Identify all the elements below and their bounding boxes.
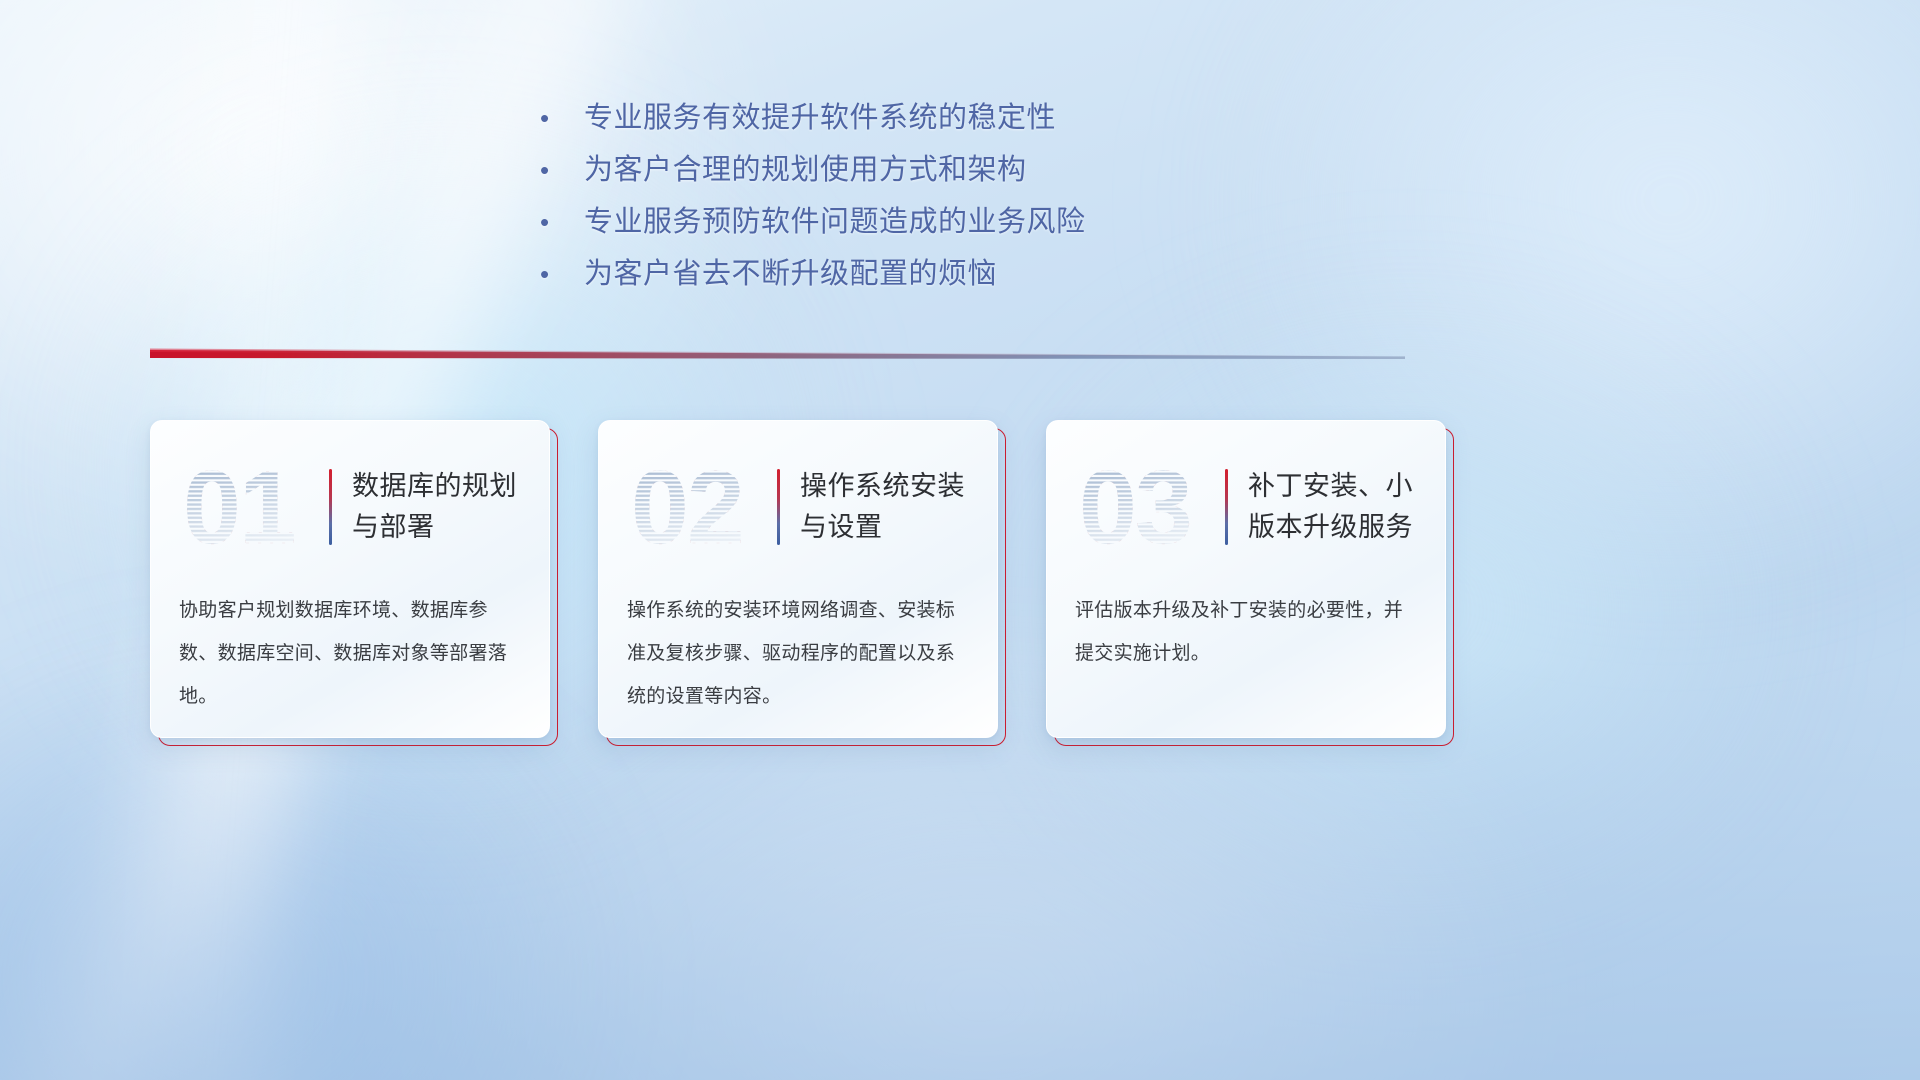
card-divider-line — [777, 469, 780, 545]
card-description: 协助客户规划数据库环境、数据库参数、数据库空间、数据库对象等部署落地。 — [179, 589, 521, 718]
service-card[interactable]: 02 02 操作系统安装与设置 操作系统的安装环境网络调查、安装标准及复核步骤、… — [598, 420, 1003, 744]
list-item-label: 为客户合理的规划使用方式和架构 — [584, 144, 1260, 196]
card-number-watermark: 02 02 — [629, 455, 769, 559]
list-item: • 为客户合理的规划使用方式和架构 — [540, 144, 1260, 196]
bullet-marker-icon: • — [540, 196, 584, 248]
card-header: 03 03 补丁安装、小版本升级服务 — [1075, 451, 1417, 563]
service-card[interactable]: 03 03 补丁安装、小版本升级服务 评估版本升级及补丁安装的必要性，并提交实施… — [1046, 420, 1451, 744]
card-surface: 02 02 操作系统安装与设置 操作系统的安装环境网络调查、安装标准及复核步骤、… — [598, 420, 998, 738]
list-item: • 为客户省去不断升级配置的烦恼 — [540, 248, 1260, 300]
list-item-label: 专业服务预防软件问题造成的业务风险 — [584, 196, 1260, 248]
svg-text:03: 03 — [1079, 455, 1191, 559]
bullet-marker-icon: • — [540, 92, 584, 144]
card-surface: 03 03 补丁安装、小版本升级服务 评估版本升级及补丁安装的必要性，并提交实施… — [1046, 420, 1446, 738]
card-number-watermark: 01 01 — [181, 455, 321, 559]
card-number-watermark: 03 03 — [1077, 455, 1217, 559]
svg-text:02: 02 — [631, 455, 743, 559]
bullet-marker-icon: • — [540, 248, 584, 300]
service-card[interactable]: 01 01 数据库的规划与部署 协助客户规划数据库环境、数据库参数、数据库空间、… — [150, 420, 555, 744]
card-description: 评估版本升级及补丁安装的必要性，并提交实施计划。 — [1075, 589, 1417, 675]
striped-number-icon: 03 03 — [1077, 455, 1217, 559]
benefits-bullet-list: • 专业服务有效提升软件系统的稳定性 • 为客户合理的规划使用方式和架构 • 专… — [540, 92, 1260, 300]
striped-number-icon: 02 02 — [629, 455, 769, 559]
card-header: 02 02 操作系统安装与设置 — [627, 451, 969, 563]
card-title: 补丁安装、小版本升级服务 — [1248, 466, 1417, 548]
list-item: • 专业服务预防软件问题造成的业务风险 — [540, 196, 1260, 248]
list-item: • 专业服务有效提升软件系统的稳定性 — [540, 92, 1260, 144]
svg-text:01: 01 — [183, 455, 295, 559]
service-cards: 01 01 数据库的规划与部署 协助客户规划数据库环境、数据库参数、数据库空间、… — [150, 420, 1470, 744]
card-title: 操作系统安装与设置 — [800, 466, 969, 548]
card-divider-line — [329, 469, 332, 545]
list-item-label: 为客户省去不断升级配置的烦恼 — [584, 248, 1260, 300]
divider-shape — [150, 348, 1405, 362]
list-item-label: 专业服务有效提升软件系统的稳定性 — [584, 92, 1260, 144]
striped-number-icon: 01 01 — [181, 455, 321, 559]
card-description: 操作系统的安装环境网络调查、安装标准及复核步骤、驱动程序的配置以及系统的设置等内… — [627, 589, 969, 718]
bullet-marker-icon: • — [540, 144, 584, 196]
card-header: 01 01 数据库的规划与部署 — [179, 451, 521, 563]
section-divider — [150, 348, 1405, 362]
card-surface: 01 01 数据库的规划与部署 协助客户规划数据库环境、数据库参数、数据库空间、… — [150, 420, 550, 738]
card-title: 数据库的规划与部署 — [352, 466, 521, 548]
card-divider-line — [1225, 469, 1228, 545]
